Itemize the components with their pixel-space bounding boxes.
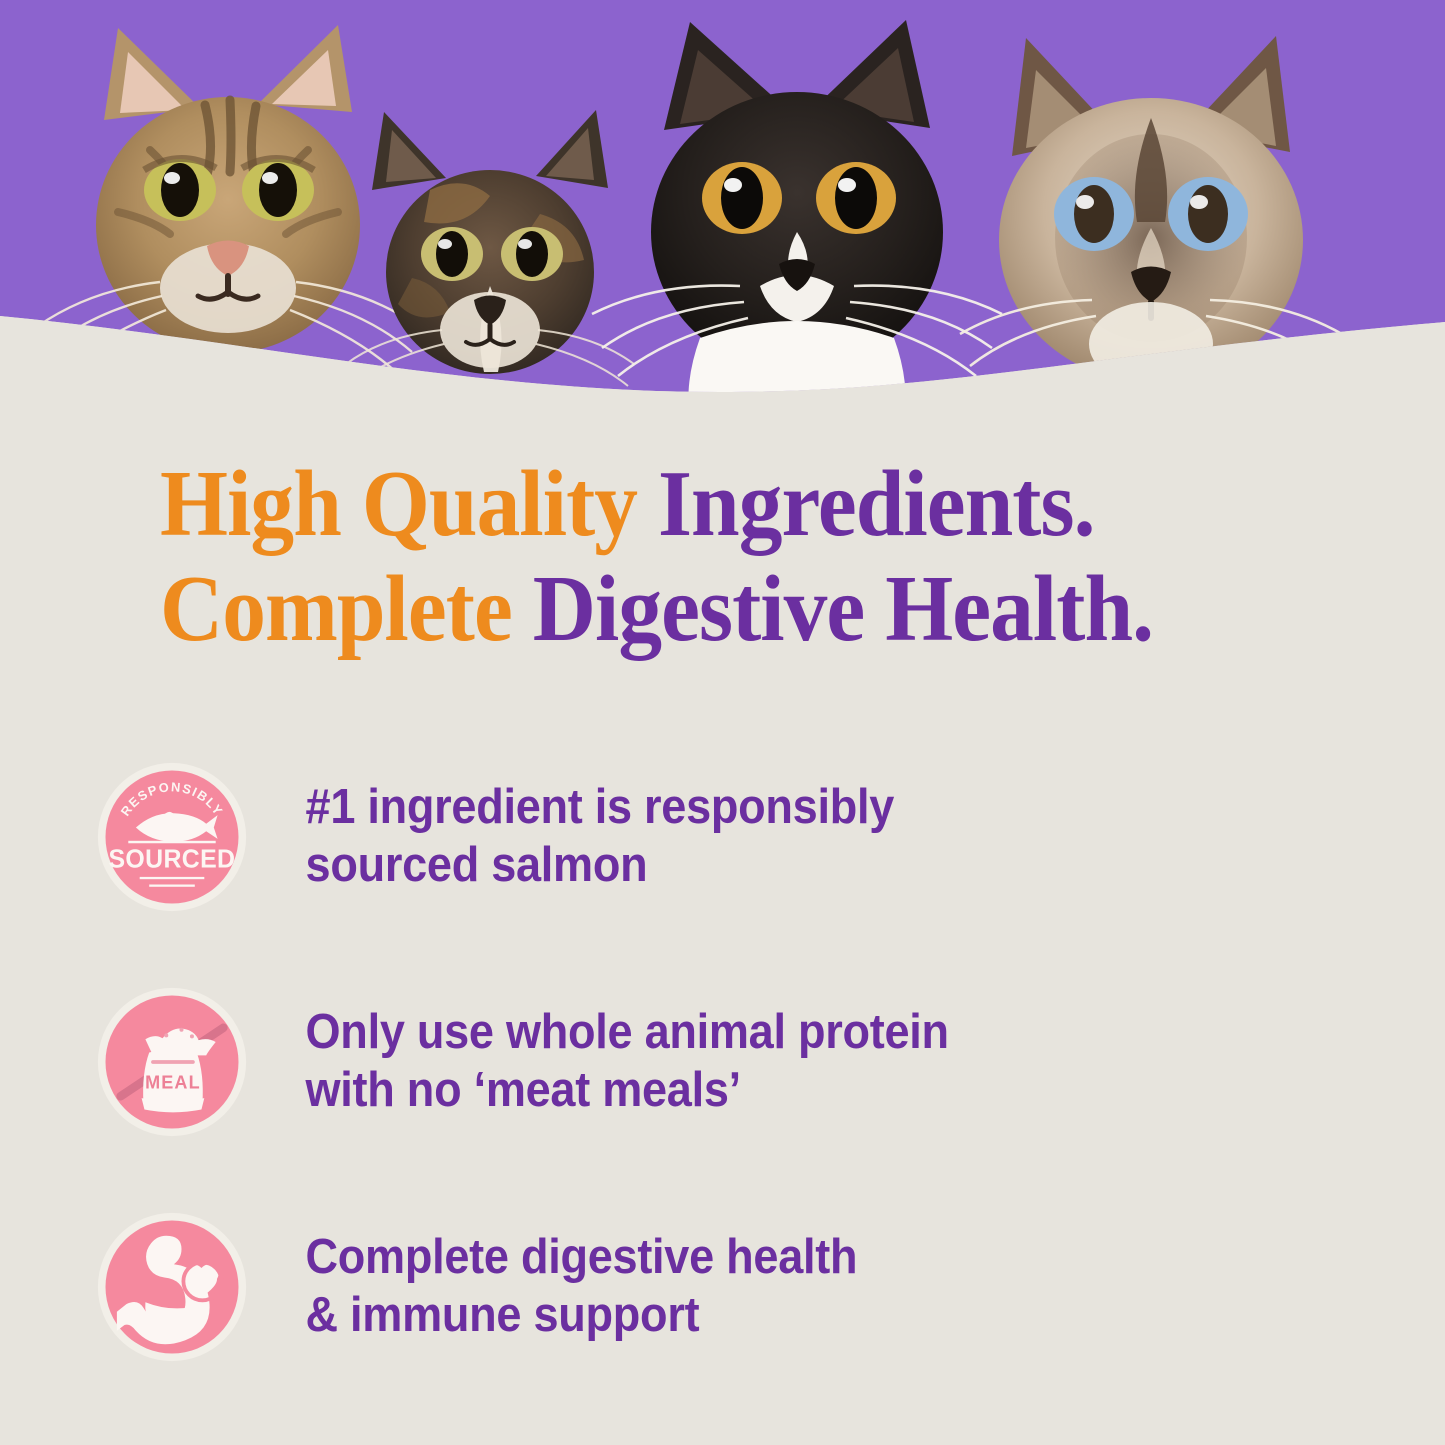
badge-main-text: SOURCED [108, 845, 235, 873]
headline-line-2: Complete Digestive Health. [160, 557, 1285, 662]
promo-page: High Quality Ingredients. Complete Diges… [0, 0, 1445, 1445]
badge-container-3 [0, 1211, 300, 1363]
hero-illustration [0, 0, 1445, 420]
feature-text-3: Complete digestive health & immune suppo… [300, 1229, 857, 1345]
responsibly-sourced-fish-icon: RESPONSIBLY SOURCED [96, 761, 248, 913]
feature-text-1: #1 ingredient is responsibly sourced sal… [300, 779, 894, 895]
headline-line1-orange: High Quality [160, 452, 658, 556]
bag-label-text: MEAL [145, 1072, 201, 1092]
no-meat-meal-bag-icon: MEAL [96, 986, 248, 1138]
headline-line1-purple: Ingredients. [658, 452, 1095, 556]
feature-list: RESPONSIBLY SOURCED #1 ingredient is res… [0, 724, 1445, 1399]
list-item: Complete digestive health & immune suppo… [0, 1174, 1445, 1399]
hero-banner [0, 0, 1445, 420]
badge-container-2: MEAL [0, 986, 300, 1138]
stomach-heart-digestive-icon [96, 1211, 248, 1363]
headline-line2-orange: Complete [160, 557, 533, 661]
list-item: RESPONSIBLY SOURCED #1 ingredient is res… [0, 724, 1445, 949]
headline-line-1: High Quality Ingredients. [160, 452, 1285, 557]
badge-container-1: RESPONSIBLY SOURCED [0, 761, 300, 913]
list-item: MEAL Only use whole animal protein with … [0, 949, 1445, 1174]
page-title: High Quality Ingredients. Complete Diges… [160, 452, 1285, 663]
headline-line2-purple: Digestive Health. [533, 557, 1153, 661]
feature-text-2: Only use whole animal protein with no ‘m… [300, 1004, 949, 1120]
